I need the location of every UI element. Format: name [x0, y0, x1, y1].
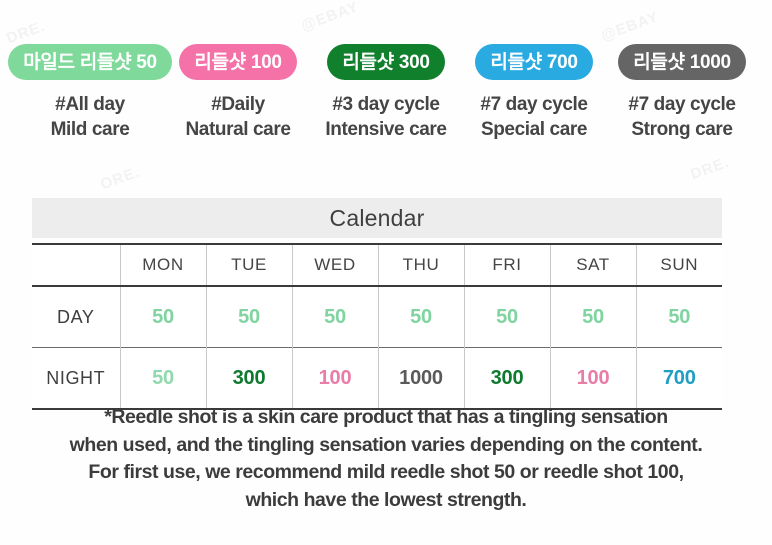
calendar-section: Calendar MON TUE WED THU FRI SAT SUN	[32, 198, 722, 410]
column-header-tue: TUE	[206, 244, 292, 286]
footnote-line-1: *Reedle shot is a skin care product that…	[20, 404, 752, 432]
usage-schedule-table: MON TUE WED THU FRI SAT SUN DAY 50 50 50…	[32, 243, 722, 410]
cell-day-sun: 50	[636, 286, 722, 348]
calendar-title: Calendar	[32, 198, 722, 238]
cell-night-fri: 300	[464, 348, 550, 410]
table-corner-cell	[32, 244, 120, 286]
column-header-wed: WED	[292, 244, 378, 286]
cell-night-thu: 1000	[378, 348, 464, 410]
footnote-line-2: when used, and the tingling sensation va…	[20, 432, 752, 460]
tier-item-300: 리들샷 300 #3 day cycle Intensive care	[312, 44, 460, 142]
column-header-thu: THU	[378, 244, 464, 286]
cell-night-sun: 700	[636, 348, 722, 410]
tier-subtitle-line1: #3 day cycle	[332, 94, 439, 115]
usage-footnote: *Reedle shot is a skin care product that…	[20, 404, 752, 515]
footnote-line-3: For first use, we recommend mild reedle …	[20, 459, 752, 487]
cell-night-wed: 100	[292, 348, 378, 410]
row-header-night: NIGHT	[32, 348, 120, 410]
tier-subtitle-line2: Natural care	[185, 117, 290, 142]
cell-day-mon: 50	[120, 286, 206, 348]
tier-subtitle-700: #7 day cycle Special care	[480, 92, 587, 142]
table-row: NIGHT 50 300 100 1000 300 100 700	[32, 348, 722, 410]
tier-subtitle-line2: Special care	[480, 117, 587, 142]
cell-day-wed: 50	[292, 286, 378, 348]
tier-item-100: 리들샷 100 #Daily Natural care	[164, 44, 312, 142]
tier-subtitle-300: #3 day cycle Intensive care	[325, 92, 446, 142]
tier-badge-300[interactable]: 리들샷 300	[327, 44, 444, 80]
tier-subtitle-line2: Strong care	[628, 117, 735, 142]
column-header-sun: SUN	[636, 244, 722, 286]
cell-day-tue: 50	[206, 286, 292, 348]
column-header-mon: MON	[120, 244, 206, 286]
cell-day-fri: 50	[464, 286, 550, 348]
cell-night-mon: 50	[120, 348, 206, 410]
table-header-row: MON TUE WED THU FRI SAT SUN	[32, 244, 722, 286]
cell-day-thu: 50	[378, 286, 464, 348]
row-header-day: DAY	[32, 286, 120, 348]
column-header-sat: SAT	[550, 244, 636, 286]
tier-item-1000: 리들샷 1000 #7 day cycle Strong care	[608, 44, 756, 142]
watermark: DRE.	[688, 154, 731, 184]
tier-subtitle-100: #Daily Natural care	[185, 92, 290, 142]
product-tier-row: 마일드 리들샷 50 #All day Mild care 리들샷 100 #D…	[0, 0, 772, 142]
product-info-infographic: DRE. @EBAY @EBAY M-SELLER@EBAY M-SELLER@…	[0, 0, 772, 545]
tier-subtitle-line1: #7 day cycle	[628, 94, 735, 115]
cell-day-sat: 50	[550, 286, 636, 348]
tier-subtitle-1000: #7 day cycle Strong care	[628, 92, 735, 142]
cell-night-tue: 300	[206, 348, 292, 410]
tier-subtitle-line2: Mild care	[51, 117, 130, 142]
tier-badge-100[interactable]: 리들샷 100	[179, 44, 296, 80]
footnote-line-4: which have the lowest strength.	[20, 487, 752, 515]
tier-subtitle-line1: #All day	[55, 94, 125, 115]
tier-subtitle-mild-50: #All day Mild care	[51, 92, 130, 142]
tier-subtitle-line1: #Daily	[211, 94, 265, 115]
tier-badge-1000[interactable]: 리들샷 1000	[618, 44, 746, 80]
cell-night-sat: 100	[550, 348, 636, 410]
tier-subtitle-line1: #7 day cycle	[480, 94, 587, 115]
table-row: DAY 50 50 50 50 50 50 50	[32, 286, 722, 348]
column-header-fri: FRI	[464, 244, 550, 286]
tier-badge-700[interactable]: 리들샷 700	[475, 44, 592, 80]
tier-subtitle-line2: Intensive care	[325, 117, 446, 142]
tier-item-700: 리들샷 700 #7 day cycle Special care	[460, 44, 608, 142]
tier-badge-mild-50[interactable]: 마일드 리들샷 50	[8, 44, 172, 80]
tier-item-mild-50: 마일드 리들샷 50 #All day Mild care	[16, 44, 164, 142]
watermark: ORE.	[98, 164, 142, 194]
